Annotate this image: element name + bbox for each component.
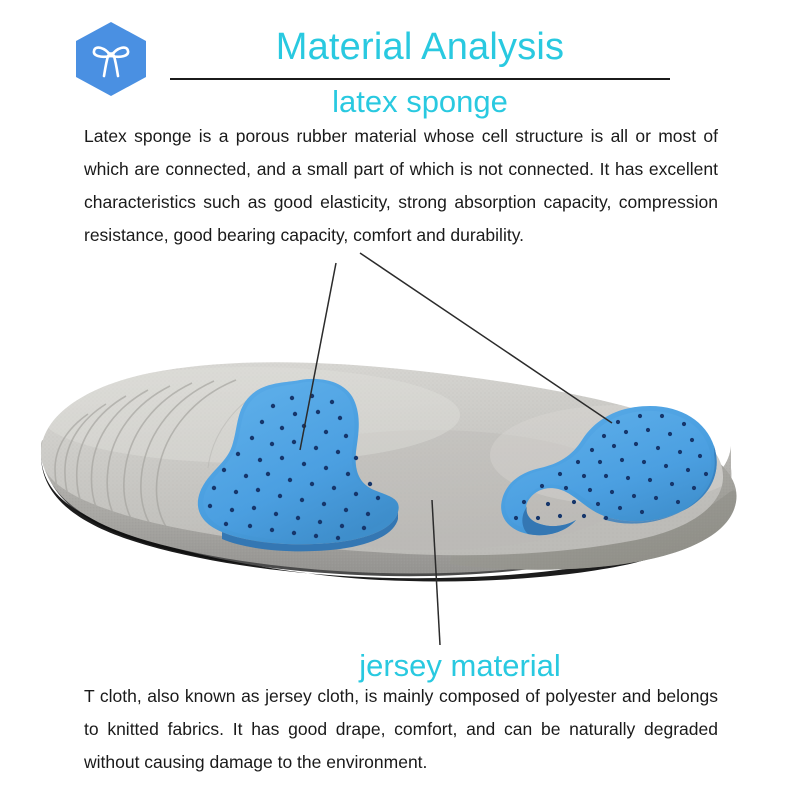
paragraph-latex-sponge: Latex sponge is a porous rubber material… xyxy=(84,120,718,252)
infographic-page: Material Analysis latex sponge Latex spo… xyxy=(0,0,800,800)
title-divider xyxy=(170,78,670,80)
section-heading-latex-sponge: latex sponge xyxy=(170,82,670,122)
insole-diagram xyxy=(0,240,800,660)
hexagon-badge xyxy=(72,20,150,98)
page-title: Material Analysis xyxy=(170,24,670,70)
bow-ribbon-icon xyxy=(72,20,150,98)
product-illustration xyxy=(0,240,800,660)
paragraph-jersey-material: T cloth, also known as jersey cloth, is … xyxy=(84,680,718,779)
